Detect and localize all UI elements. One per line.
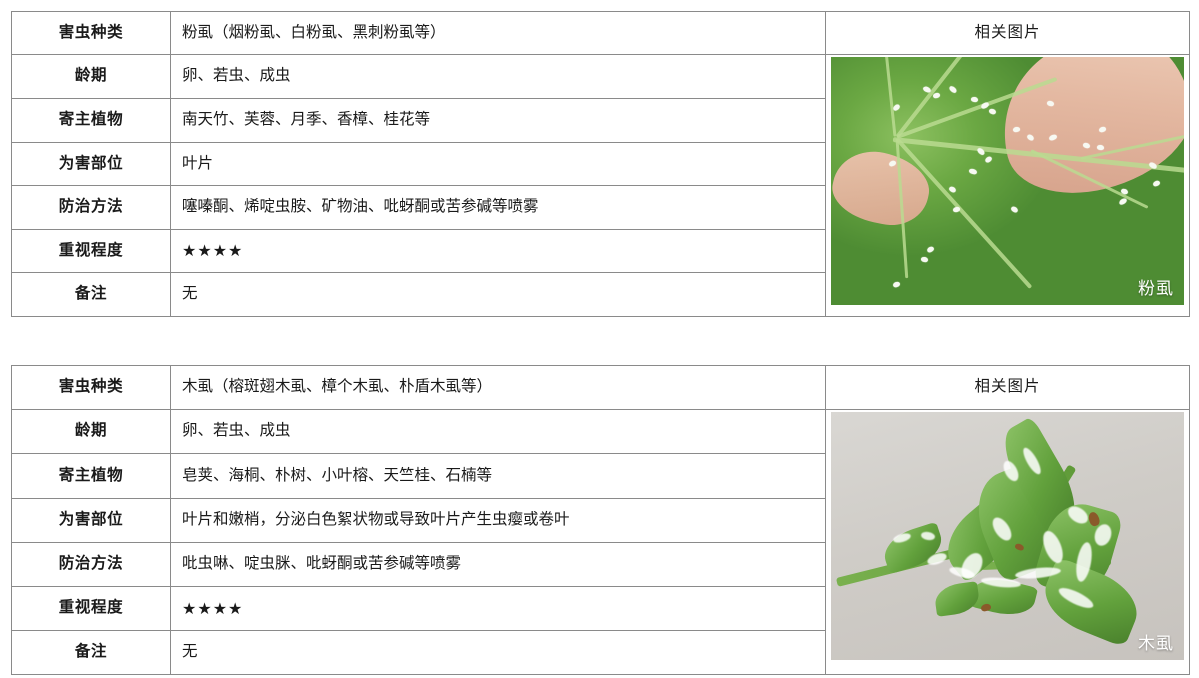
row-label-priority: 重视程度 — [12, 587, 171, 631]
photo-column-header: 相关图片 — [826, 12, 1190, 55]
pest-reference-sheet: 害虫种类 粉虱（烟粉虱、白粉虱、黑刺粉虱等） 相关图片 龄期 卵、若虫、成虫 — [0, 0, 1199, 678]
whitefly-speck — [892, 281, 900, 288]
whitefly-speck — [1010, 205, 1019, 213]
row-label-damage-site: 为害部位 — [12, 499, 171, 543]
row-label-damage-site: 为害部位 — [12, 143, 171, 186]
whitefly-speck — [968, 168, 977, 175]
photo-caption-psyllid: 木虱 — [1138, 633, 1174, 656]
whitefly-speck — [892, 103, 901, 111]
whitefly-speck — [980, 101, 989, 109]
row-value-stage: 卵、若虫、成虫 — [171, 55, 826, 99]
pest-table-whitefly: 害虫种类 粉虱（烟粉虱、白粉虱、黑刺粉虱等） 相关图片 龄期 卵、若虫、成虫 — [11, 11, 1190, 317]
row-label-pest-type: 害虫种类 — [12, 12, 171, 55]
row-value-remarks: 无 — [171, 273, 826, 317]
pest-table-psyllid: 害虫种类 木虱（榕斑翅木虱、樟个木虱、朴盾木虱等） 相关图片 龄期 卵、若虫、成… — [11, 365, 1190, 675]
hand-shape — [985, 57, 1184, 210]
photo-cell-psyllid: 木虱 — [826, 410, 1190, 675]
row-value-control-method: 吡虫啉、啶虫脒、吡蚜酮或苦参碱等喷雾 — [171, 543, 826, 587]
row-label-pest-type: 害虫种类 — [12, 366, 171, 410]
row-label-control-method: 防治方法 — [12, 543, 171, 587]
row-label-stage: 龄期 — [12, 410, 171, 454]
row-value-control-method: 噻嗪酮、烯啶虫胺、矿物油、吡蚜酮或苦参碱等喷雾 — [171, 186, 826, 230]
whitefly-speck — [1097, 145, 1105, 151]
whitefly-speck — [984, 155, 993, 163]
row-label-control-method: 防治方法 — [12, 186, 171, 230]
whitefly-speck — [926, 246, 935, 254]
row-value-damage-site: 叶片 — [171, 143, 826, 186]
row-label-host-plants: 寄主植物 — [12, 454, 171, 499]
leaf-shape — [933, 581, 981, 617]
row-label-stage: 龄期 — [12, 55, 171, 99]
whitefly-leaf-photo: 粉虱 — [831, 57, 1184, 305]
row-value-host-plants: 皂荚、海桐、朴树、小叶榕、天竺桂、石楠等 — [171, 454, 826, 499]
row-value-host-plants: 南天竹、芙蓉、月季、香樟、桂花等 — [171, 99, 826, 143]
photo-caption-whitefly: 粉虱 — [1138, 278, 1174, 301]
leaf-vein — [884, 57, 896, 137]
row-value-damage-site: 叶片和嫩梢，分泌白色絮状物或导致叶片产生虫瘿或卷叶 — [171, 499, 826, 543]
row-value-pest-type: 木虱（榕斑翅木虱、樟个木虱、朴盾木虱等） — [171, 366, 826, 410]
row-value-stage: 卵、若虫、成虫 — [171, 410, 826, 454]
thumb-shape — [831, 144, 935, 232]
whitefly-speck — [971, 96, 979, 102]
row-value-priority-stars: ★★★★ — [171, 230, 826, 273]
row-value-priority-stars: ★★★★ — [171, 587, 826, 631]
row-value-remarks: 无 — [171, 631, 826, 675]
whitefly-speck — [948, 186, 957, 194]
row-value-pest-type: 粉虱（烟粉虱、白粉虱、黑刺粉虱等） — [171, 12, 826, 55]
psyllid-branch-photo: 木虱 — [831, 412, 1184, 660]
table-row: 害虫种类 木虱（榕斑翅木虱、樟个木虱、朴盾木虱等） 相关图片 — [12, 366, 1190, 410]
whitefly-speck — [921, 256, 929, 262]
table-row: 龄期 卵、若虫、成虫 — [12, 410, 1190, 454]
whitefly-speck — [1118, 197, 1127, 206]
whitefly-speck — [988, 108, 996, 115]
row-label-priority: 重视程度 — [12, 230, 171, 273]
whitefly-speck — [932, 92, 940, 99]
row-label-host-plants: 寄主植物 — [12, 99, 171, 143]
photo-cell-whitefly: 粉虱 — [826, 55, 1190, 317]
whitefly-speck — [1152, 180, 1160, 187]
photo-column-header: 相关图片 — [826, 366, 1190, 410]
whitefly-speck — [948, 85, 957, 94]
row-label-remarks: 备注 — [12, 273, 171, 317]
row-label-remarks: 备注 — [12, 631, 171, 675]
table-row: 害虫种类 粉虱（烟粉虱、白粉虱、黑刺粉虱等） 相关图片 — [12, 12, 1190, 55]
leaf-shape — [879, 522, 947, 575]
table-row: 龄期 卵、若虫、成虫 — [12, 55, 1190, 99]
